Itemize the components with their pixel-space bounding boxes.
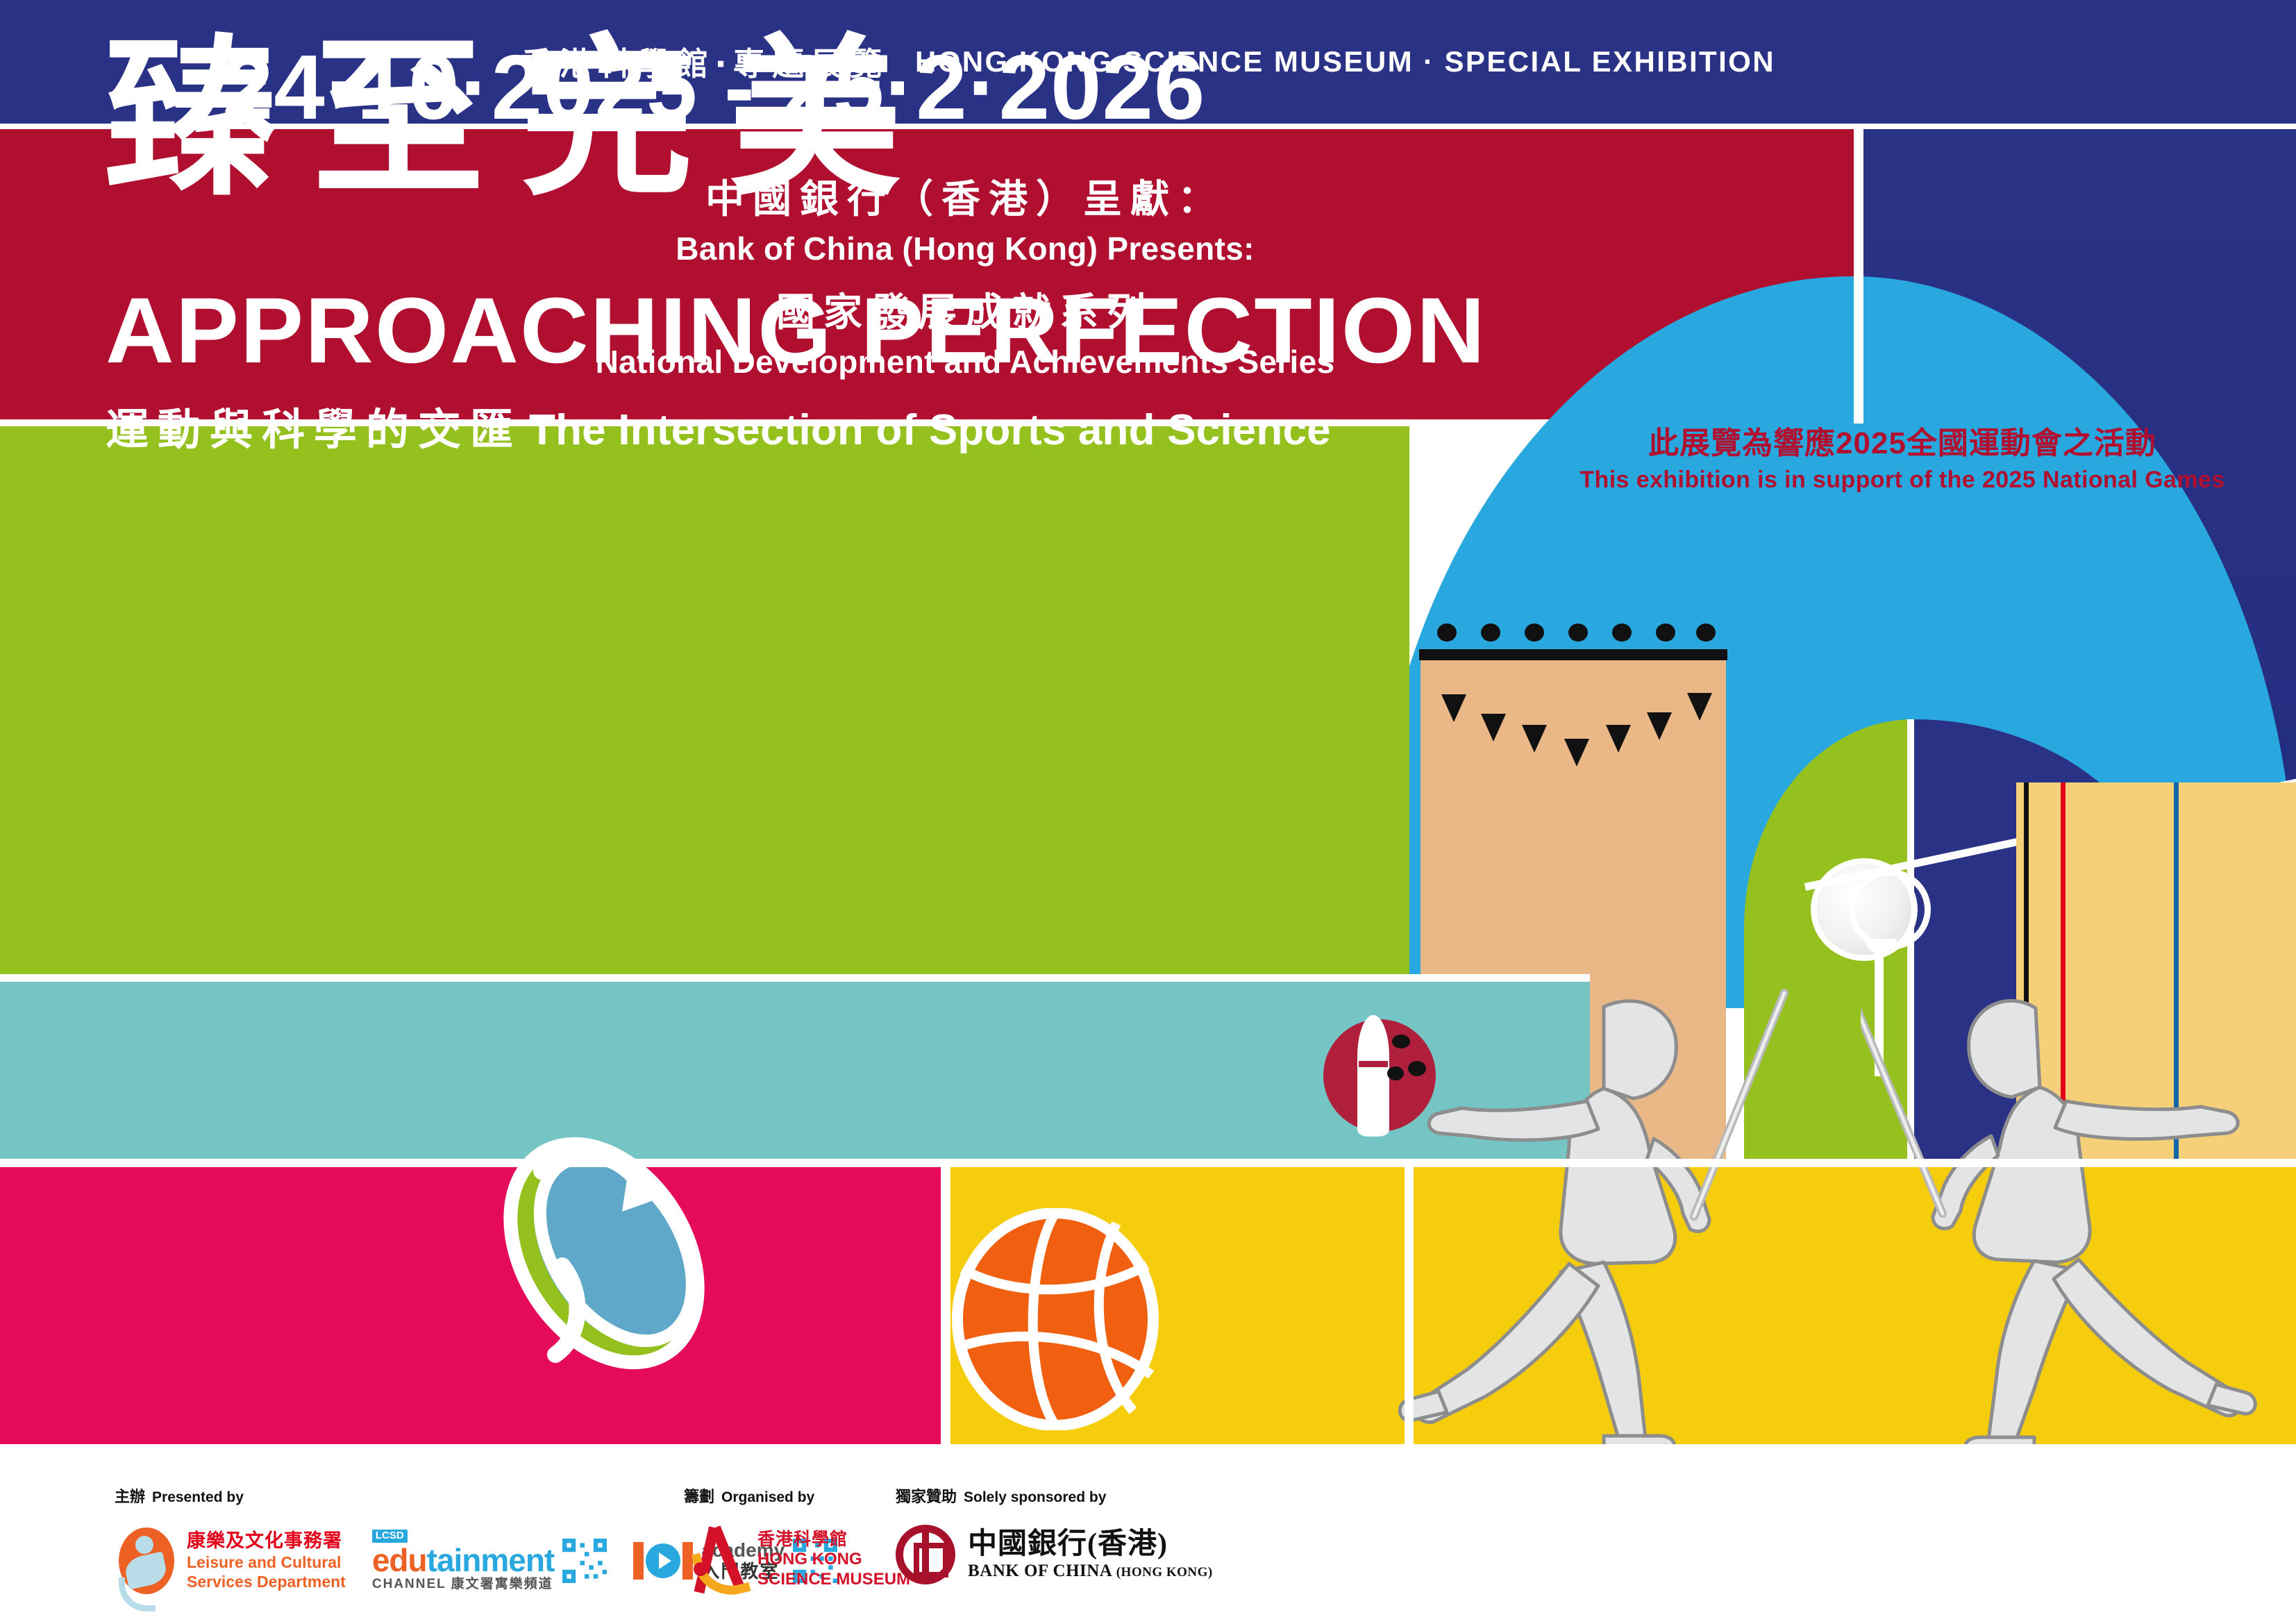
credit-organised-by: 籌劃 Organised by 香港科學館 HONG KONG SCIENCE … [684, 1484, 910, 1594]
gutter [0, 1159, 2296, 1167]
credit-label-organised: 籌劃 Organised by [684, 1484, 910, 1507]
poster-footer: 主辦 Presented by 康樂及文化事務署 Leisure and Cul… [0, 1448, 2296, 1624]
credit-sponsored-zh: 獨家贊助 [896, 1484, 957, 1507]
edutainment-logo-text: LCSD edutainment CHANNEL 康文署寓樂頻道 [372, 1530, 554, 1592]
credit-sponsored-by: 獨家贊助 Solely sponsored by 中國銀行(香港) BANK O… [896, 1484, 1213, 1584]
hksm-logo: 香港科學館 HONG KONG SCIENCE MUSEUM [684, 1525, 910, 1594]
gutter [1405, 1166, 1414, 1444]
fencer-right-svg [1861, 965, 2296, 1493]
presenter-line-en: Bank of China (Hong Kong) Presents: [676, 230, 1254, 267]
swirl-svg [458, 1107, 750, 1399]
lane-arrow-icon [1481, 714, 1506, 742]
fencer-right-icon [1861, 965, 2296, 1493]
hksm-figure-icon [684, 1525, 748, 1594]
subtitle-en: The Intersection of Sports and Science [529, 405, 1331, 455]
basketball-icon [951, 1208, 1159, 1430]
page-title-en: APPROACHING PERFECTION [106, 278, 1486, 384]
gutter [941, 1166, 950, 1444]
gutter [0, 974, 1590, 982]
bowling-pin-dot [1696, 623, 1716, 642]
title-block [0, 426, 1409, 974]
edutainment-sub: CHANNEL 康文署寓樂頻道 [372, 1577, 554, 1592]
lane-arrow-icon [1647, 712, 1672, 740]
lcsd-figure-icon [115, 1525, 178, 1597]
bowling-foul-line [1419, 649, 1727, 660]
credit-organised-zh: 籌劃 [684, 1484, 714, 1507]
lane-arrow-icon [1564, 739, 1589, 767]
boc-name-en: BANK OF CHINA (HONG KONG) [968, 1562, 1213, 1582]
hksm-name-en2: SCIENCE MUSEUM [757, 1570, 910, 1590]
credit-presented-zh: 主辦 [115, 1484, 145, 1507]
bowling-pin-icon [1357, 1015, 1389, 1137]
gutter [0, 419, 1409, 426]
lcsd-logo-text: 康樂及文化事務署 Leisure and Cultural Services D… [187, 1530, 346, 1591]
credit-organised-en: Organised by [721, 1489, 814, 1506]
organised-logo-row: 香港科學館 HONG KONG SCIENCE MUSEUM [684, 1525, 910, 1594]
golf-ball-outline-icon [1849, 869, 1931, 950]
hksm-name-en1: HONG KONG [757, 1550, 910, 1570]
credit-sponsored-en: Solely sponsored by [964, 1489, 1106, 1506]
bowling-pin-stripe [1359, 1061, 1388, 1067]
national-games-note: 此展覽為響應2025全國運動會之活動 This exhibition is in… [1576, 418, 2229, 494]
fencer-left-svg [1396, 972, 1909, 1486]
lcsd-name-en1: Leisure and Cultural [187, 1552, 346, 1572]
credit-presented-en: Presented by [152, 1489, 244, 1506]
boc-logo-text: 中國銀行(香港) BANK OF CHINA (HONG KONG) [968, 1527, 1213, 1581]
edutainment-wordmark: edutainment [372, 1543, 554, 1578]
boc-name-en-sub: (HONG KONG) [1116, 1565, 1213, 1580]
bowling-pin-dot [1437, 623, 1457, 642]
exhibition-poster: 香港科學館‧專題展覽 HONG KONG SCIENCE MUSEUM · SP… [0, 0, 2296, 1624]
bowling-pin-dot [1568, 623, 1588, 642]
boc-coin-icon [896, 1525, 955, 1584]
basketball-svg [951, 1208, 1159, 1430]
national-games-note-zh: 此展覽為響應2025全國運動會之活動 [1576, 418, 2229, 462]
table-tennis-swirl-icon [458, 1107, 750, 1399]
bowling-pin-dot [1481, 623, 1500, 642]
lcsd-name-en2: Services Department [187, 1572, 346, 1591]
edutainment-word-tainment: tainment [427, 1542, 555, 1578]
edutainment-word-edu: edu [372, 1542, 427, 1578]
lane-arrow-icon [1606, 725, 1631, 753]
credit-label-sponsored: 獨家贊助 Solely sponsored by [896, 1484, 1213, 1507]
boc-name-zh: 中國銀行(香港) [968, 1527, 1213, 1561]
bank-of-china-logo: 中國銀行(香港) BANK OF CHINA (HONG KONG) [896, 1525, 1213, 1584]
bowling-pin-dot [1525, 623, 1544, 642]
hksm-logo-text: 香港科學館 HONG KONG SCIENCE MUSEUM [757, 1529, 910, 1590]
edutainment-qr-code[interactable] [562, 1539, 607, 1583]
lane-arrow-icon [1522, 725, 1547, 753]
sponsored-logo-row: 中國銀行(香港) BANK OF CHINA (HONG KONG) [896, 1525, 1213, 1584]
bowling-pin-dot [1656, 623, 1675, 642]
gutter [0, 124, 2296, 129]
national-games-note-en: This exhibition is in support of the 202… [1576, 467, 2229, 494]
edutainment-logo: LCSD edutainment CHANNEL 康文署寓樂頻道 [372, 1530, 607, 1592]
edutainment-lcsd-tag: LCSD [372, 1530, 408, 1543]
fencer-left-icon [1396, 972, 1909, 1486]
lcsd-logo: 康樂及文化事務署 Leisure and Cultural Services D… [115, 1525, 346, 1597]
lane-arrow-icon [1687, 693, 1712, 721]
hksm-name-zh: 香港科學館 [757, 1529, 910, 1550]
lcsd-name-zh: 康樂及文化事務署 [187, 1530, 346, 1552]
gutter [1854, 124, 1863, 424]
bowling-pin-dot [1612, 623, 1632, 642]
lane-arrow-icon [1441, 694, 1466, 722]
boc-name-en-main: BANK OF CHINA [968, 1562, 1112, 1580]
